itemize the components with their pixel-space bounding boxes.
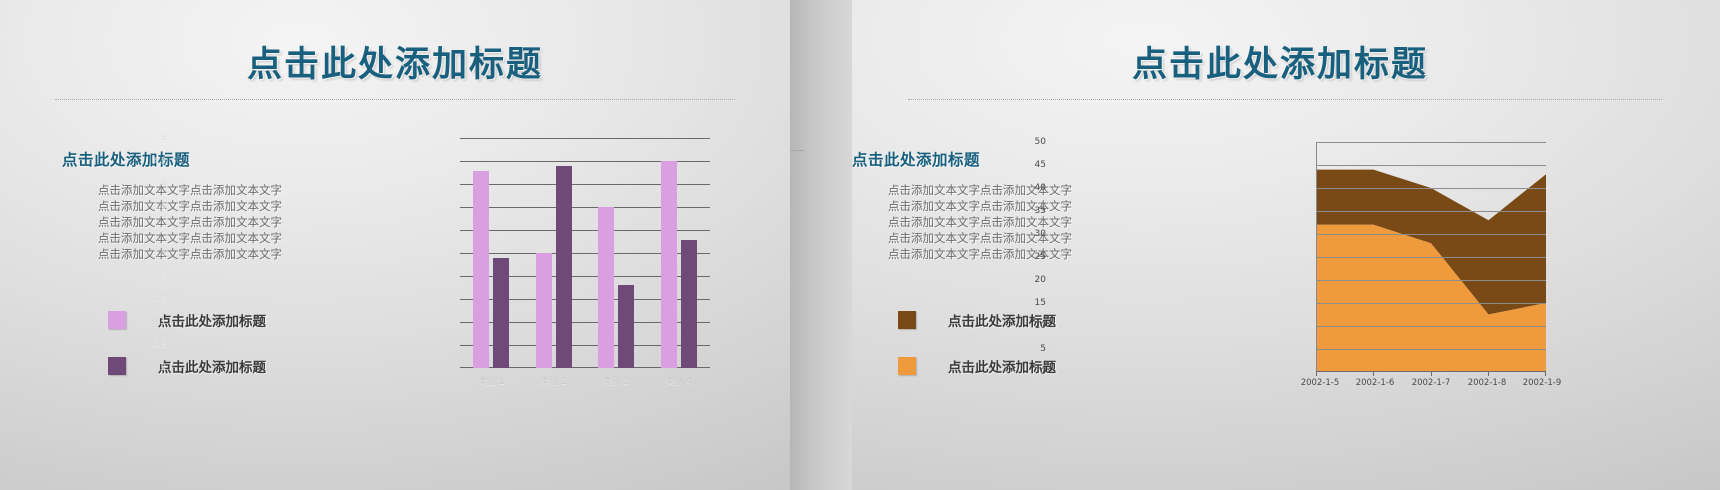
y-tick-label: 2 [140, 271, 166, 280]
y-tick-label: 2.5 [140, 248, 166, 257]
body-paragraph: 点击添加文本文字点击添加文本文字 点击添加文本文字点击添加文本文字 点击添加文本… [888, 182, 1072, 262]
legend-item[interactable]: 点击此处添加标题 [108, 310, 266, 330]
y-tick-label: 10 [1018, 321, 1046, 331]
x-tick-label: 2002-1-6 [1356, 378, 1395, 388]
legend-swatch-icon [108, 311, 126, 329]
bar-chart-plot [460, 138, 710, 368]
bar-group [523, 138, 586, 368]
slide-deck: 点击此处添加标题 点击此处添加标题 点击添加文本文字点击添加文本文字 点击添加文… [0, 0, 1720, 490]
body-paragraph: 点击添加文本文字点击添加文本文字 点击添加文本文字点击添加文本文字 点击添加文本… [98, 182, 282, 262]
body-line: 点击添加文本文字点击添加文本文字 [888, 214, 1072, 230]
slide-bar-chart: 点击此处添加标题 点击此处添加标题 点击添加文本文字点击添加文本文字 点击添加文… [0, 0, 790, 490]
bar-series1[interactable] [661, 161, 677, 368]
y-tick-label: 1.5 [140, 294, 166, 303]
x-tick-label: 2002-1-7 [1412, 378, 1451, 388]
legend-swatch-icon [898, 357, 916, 375]
slide-title: 点击此处添加标题 [790, 36, 1720, 87]
title-divider [908, 99, 1662, 100]
bar-series1[interactable] [598, 207, 614, 368]
legend-label: 点击此处添加标题 [158, 356, 266, 376]
y-tick-label: 1 [140, 317, 166, 326]
slide-area-chart: 点击此处添加标题 点击此处添加标题 点击添加文本文字点击添加文本文字 点击添加文… [790, 0, 1720, 490]
bar-series2[interactable] [618, 285, 634, 368]
bar-series2[interactable] [493, 258, 509, 368]
bar-series1[interactable] [536, 253, 552, 368]
y-tick-label: 3 [140, 225, 166, 234]
body-line: 点击添加文本文字点击添加文本文字 [98, 198, 282, 214]
y-tick-label: 4.5 [140, 156, 166, 165]
body-line: 点击添加文本文字点击添加文本文字 [98, 214, 282, 230]
legend-label: 点击此处添加标题 [158, 310, 266, 330]
area-chart-plot [1316, 142, 1546, 372]
y-tick-label: 5 [1018, 344, 1046, 354]
y-tick-label: 30 [1018, 229, 1046, 239]
legend-swatch-icon [108, 357, 126, 375]
y-tick-label: 0 [140, 362, 166, 371]
bar-group [460, 138, 523, 368]
x-tick-label: 类别 4 [648, 374, 711, 387]
y-tick-label: 45 [1018, 160, 1046, 170]
y-tick-label: 5 [140, 133, 166, 142]
edge-tick [790, 150, 804, 151]
body-line: 点击添加文本文字点击添加文本文字 [98, 230, 282, 246]
y-tick-label: 35 [1018, 206, 1046, 216]
y-tick-label: 15 [1018, 298, 1046, 308]
x-tick-label: 2002-1-5 [1301, 378, 1340, 388]
section-subtitle: 点击此处添加标题 [852, 148, 980, 170]
x-tick-label: 类别 2 [523, 374, 586, 387]
chart-legend: 点击此处添加标题 点击此处添加标题 [108, 310, 266, 402]
body-line: 点击添加文本文字点击添加文本文字 [98, 246, 282, 262]
y-tick-label: 50 [1018, 137, 1046, 147]
bar-chart-x-axis: 类别 1 类别 2 类别 3 类别 4 [460, 374, 710, 387]
legend-item[interactable]: 点击此处添加标题 [108, 356, 266, 376]
title-divider [55, 99, 735, 100]
bar-group [648, 138, 711, 368]
y-tick-label: 4 [140, 179, 166, 188]
section-subtitle: 点击此处添加标题 [62, 148, 190, 170]
y-tick-label: 20 [1018, 275, 1046, 285]
bar-series2[interactable] [681, 240, 697, 368]
area-chart-gridlines [1316, 142, 1546, 372]
bar-chart-bars [460, 138, 710, 368]
x-tick-label: 类别 3 [585, 374, 648, 387]
slide-title: 点击此处添加标题 [0, 36, 790, 87]
y-axis-line [1316, 142, 1317, 372]
bar-series2[interactable] [556, 166, 572, 368]
y-tick-label: 25 [1018, 252, 1046, 262]
bar-series1[interactable] [473, 171, 489, 368]
y-tick-label: 40 [1018, 183, 1046, 193]
x-tick-label: 2002-1-8 [1468, 378, 1507, 388]
y-tick-label: 0 [1018, 367, 1046, 377]
x-tick-label: 2002-1-9 [1523, 378, 1562, 388]
legend-swatch-icon [898, 311, 916, 329]
y-tick-label: 3.5 [140, 202, 166, 211]
x-tick-label: 类别 1 [460, 374, 523, 387]
bar-group [585, 138, 648, 368]
y-tick-label: 0.5 [140, 340, 166, 349]
body-line: 点击添加文本文字点击添加文本文字 [98, 182, 282, 198]
